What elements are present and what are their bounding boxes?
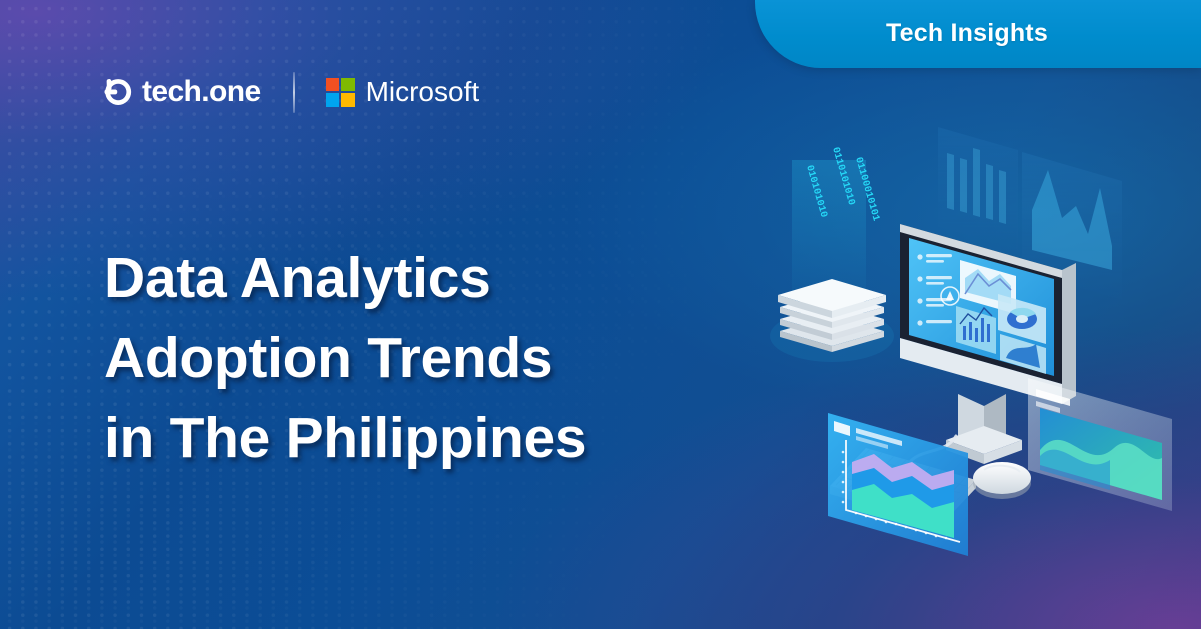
microsoft-wordmark: Microsoft	[366, 78, 480, 106]
floating-wave-window	[1028, 378, 1172, 511]
techone-wordmark: tech.one	[142, 77, 261, 107]
page-title-line-3: in The Philippines	[104, 398, 764, 478]
ribbon-label: Tech Insights	[886, 19, 1070, 50]
illustration-isometric-data-analytics: 010101010 0110101010 01100010101	[770, 118, 1190, 588]
logo-lockup: tech.one Microsoft	[103, 68, 479, 116]
floating-area-chart-panel	[828, 413, 968, 556]
techone-circle-mark-icon	[103, 77, 133, 107]
microsoft-logo: Microsoft	[326, 78, 480, 107]
page-title-line-1: Data Analytics	[104, 238, 764, 318]
page-title: Data Analytics Adoption Trends in The Ph…	[104, 238, 764, 478]
tech-insights-banner: Tech Insights tech.one Microsoft Data	[0, 0, 1201, 629]
database-stack	[770, 279, 894, 362]
tech-insights-ribbon: Tech Insights	[755, 0, 1201, 68]
vertical-divider-icon	[293, 72, 295, 113]
mouse	[973, 462, 1031, 499]
microsoft-four-squares-icon	[326, 78, 355, 107]
techone-logo: tech.one	[103, 77, 261, 107]
background-bar-chart-panel	[938, 127, 1018, 250]
page-title-line-2: Adoption Trends	[104, 318, 764, 398]
